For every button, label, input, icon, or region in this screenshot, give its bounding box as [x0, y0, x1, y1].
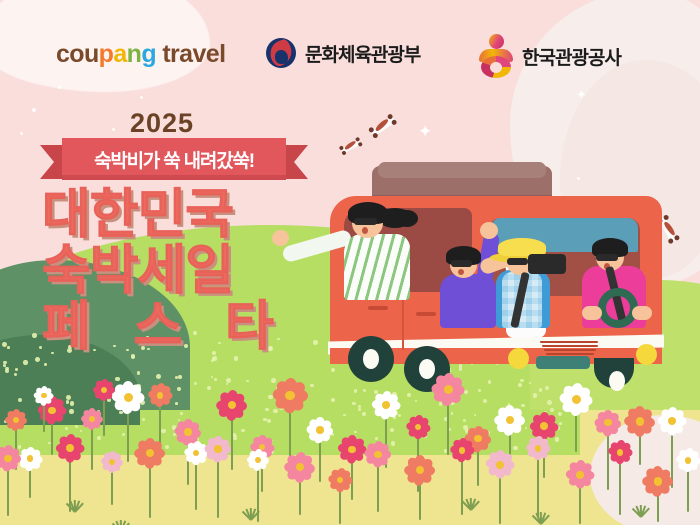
grass-speck	[265, 408, 269, 412]
ribbon-text: 숙박비가 쑥 내려갔쑥!	[94, 146, 254, 173]
title-line-2: 숙박세일	[42, 244, 342, 298]
van-handle	[416, 312, 436, 316]
grass-speck	[267, 419, 271, 423]
grass-speck	[234, 356, 238, 360]
roof-luggage-top	[378, 162, 546, 178]
flower-center	[382, 401, 390, 409]
grass-speck	[15, 368, 18, 371]
cosmos-flower	[274, 379, 306, 458]
grass-speck	[226, 378, 231, 383]
sunglasses-icon	[354, 218, 377, 225]
kto-logo[interactable]: 한국관광공사	[478, 34, 621, 78]
van-grille-line	[544, 349, 596, 351]
flower-center	[157, 392, 164, 399]
flower-center	[316, 426, 323, 433]
flower-center	[535, 445, 542, 452]
flower-center	[604, 419, 611, 426]
dot-decor	[32, 108, 36, 112]
dot-decor	[20, 132, 23, 135]
flower-center	[617, 449, 624, 456]
grass-speck	[70, 401, 74, 405]
cosmos-flower	[286, 453, 314, 515]
title-line-1: 대한민국	[42, 188, 342, 242]
grass-speck	[180, 412, 183, 415]
grass-speck	[343, 414, 345, 416]
flower-center	[124, 393, 133, 402]
flower-center	[374, 451, 381, 458]
flower-center	[285, 391, 295, 401]
flower-center	[668, 417, 676, 425]
sunglasses-icon	[507, 258, 528, 265]
flower-center	[4, 455, 11, 462]
cosmos-flower	[487, 452, 513, 524]
bird-icon	[370, 115, 396, 137]
dot-decor	[112, 128, 115, 131]
dot-decor	[140, 96, 143, 99]
grass-speck	[246, 380, 249, 383]
cosmos-flower	[185, 442, 207, 510]
flower-center	[474, 435, 481, 442]
coupang-part-1: cou	[56, 40, 99, 68]
license-plate	[536, 356, 590, 369]
ministry-logo[interactable]: 문화체육관광부	[266, 38, 420, 68]
ribbon-banner: 숙박비가 쑥 내려갔쑥!	[40, 138, 308, 180]
grass-speck	[175, 402, 178, 405]
title-line-3: 페 스 타	[42, 300, 342, 354]
grass-speck	[32, 333, 37, 338]
flower-center	[572, 395, 581, 404]
sparkle-icon: ✦	[418, 123, 432, 140]
kto-figure-icon	[478, 34, 514, 78]
grass-speck	[3, 361, 7, 365]
cosmos-flower	[136, 439, 164, 518]
flower-center	[214, 445, 221, 452]
cosmos-flower	[94, 380, 114, 436]
flower-center	[654, 477, 662, 485]
promotional-banner: ✦ ✦ ✦	[0, 0, 700, 525]
cosmos-flower	[406, 456, 434, 520]
coupang-part-2: p	[99, 40, 114, 68]
campaign-year: 2025	[130, 108, 194, 139]
taegeuk-icon	[266, 38, 296, 68]
flower-center	[348, 446, 356, 454]
cosmos-flower	[35, 387, 53, 432]
van-grille-line	[540, 341, 598, 343]
van-handle	[368, 306, 388, 310]
kto-logo-text: 한국관광공사	[522, 43, 621, 70]
van-wheel-rear	[348, 336, 394, 382]
cosmos-flower	[609, 441, 631, 515]
grass-speck	[354, 431, 356, 433]
bird-icon	[340, 138, 362, 154]
sunglasses-icon	[451, 260, 472, 267]
grass-speck	[7, 346, 10, 349]
coupang-part-4: n	[127, 40, 142, 68]
ministry-logo-text: 문화체육관광부	[305, 40, 420, 67]
flower-center	[184, 428, 191, 435]
van-grille-line	[542, 345, 598, 347]
flower-center	[685, 457, 692, 464]
coupang-part-5: g	[141, 40, 156, 68]
sunglasses-icon	[596, 254, 618, 261]
cosmos-flower	[366, 442, 390, 512]
flower-center	[41, 393, 46, 398]
coupang-part-6: travel	[156, 40, 225, 68]
campaign-title: 대한민국 숙박세일 페 스 타	[42, 188, 342, 356]
flower-center	[444, 385, 453, 394]
camper-van-illustration	[330, 160, 690, 410]
flower-center	[636, 417, 644, 425]
headlight-left	[508, 348, 529, 369]
cosmos-flower	[567, 462, 593, 524]
grass-speck	[35, 357, 40, 362]
cosmos-flower	[206, 437, 230, 518]
steering-wheel	[598, 288, 638, 328]
partner-logos: coupang travel 문화체육관광부 한국관광공사	[0, 38, 700, 82]
cosmos-flower	[0, 446, 20, 516]
flower-center	[496, 461, 504, 469]
sparkle-icon: ✦	[576, 88, 587, 101]
van-wheel-front	[594, 358, 634, 388]
coupang-part-3: a	[113, 40, 126, 68]
camera-icon	[528, 254, 566, 274]
ribbon-body: 숙박비가 쑥 내려갔쑥!	[62, 138, 286, 180]
grass-speck	[178, 375, 182, 379]
flower-center	[101, 387, 107, 393]
van-grille-line	[546, 353, 594, 355]
flower-center	[459, 447, 466, 454]
coupang-travel-logo[interactable]: coupang travel	[56, 40, 225, 69]
grass-speck	[23, 360, 27, 364]
headlight-right	[636, 344, 657, 365]
cosmos-flower	[677, 449, 699, 512]
van-door-seam	[402, 300, 404, 350]
cosmos-flower	[102, 452, 122, 505]
flower-center	[576, 471, 584, 479]
cosmos-flower	[329, 469, 351, 524]
cosmos-flower	[527, 437, 549, 518]
cosmos-flower	[644, 468, 672, 522]
grass-speck	[69, 409, 73, 413]
dot-decor	[58, 86, 61, 89]
cosmos-flower	[561, 385, 591, 452]
